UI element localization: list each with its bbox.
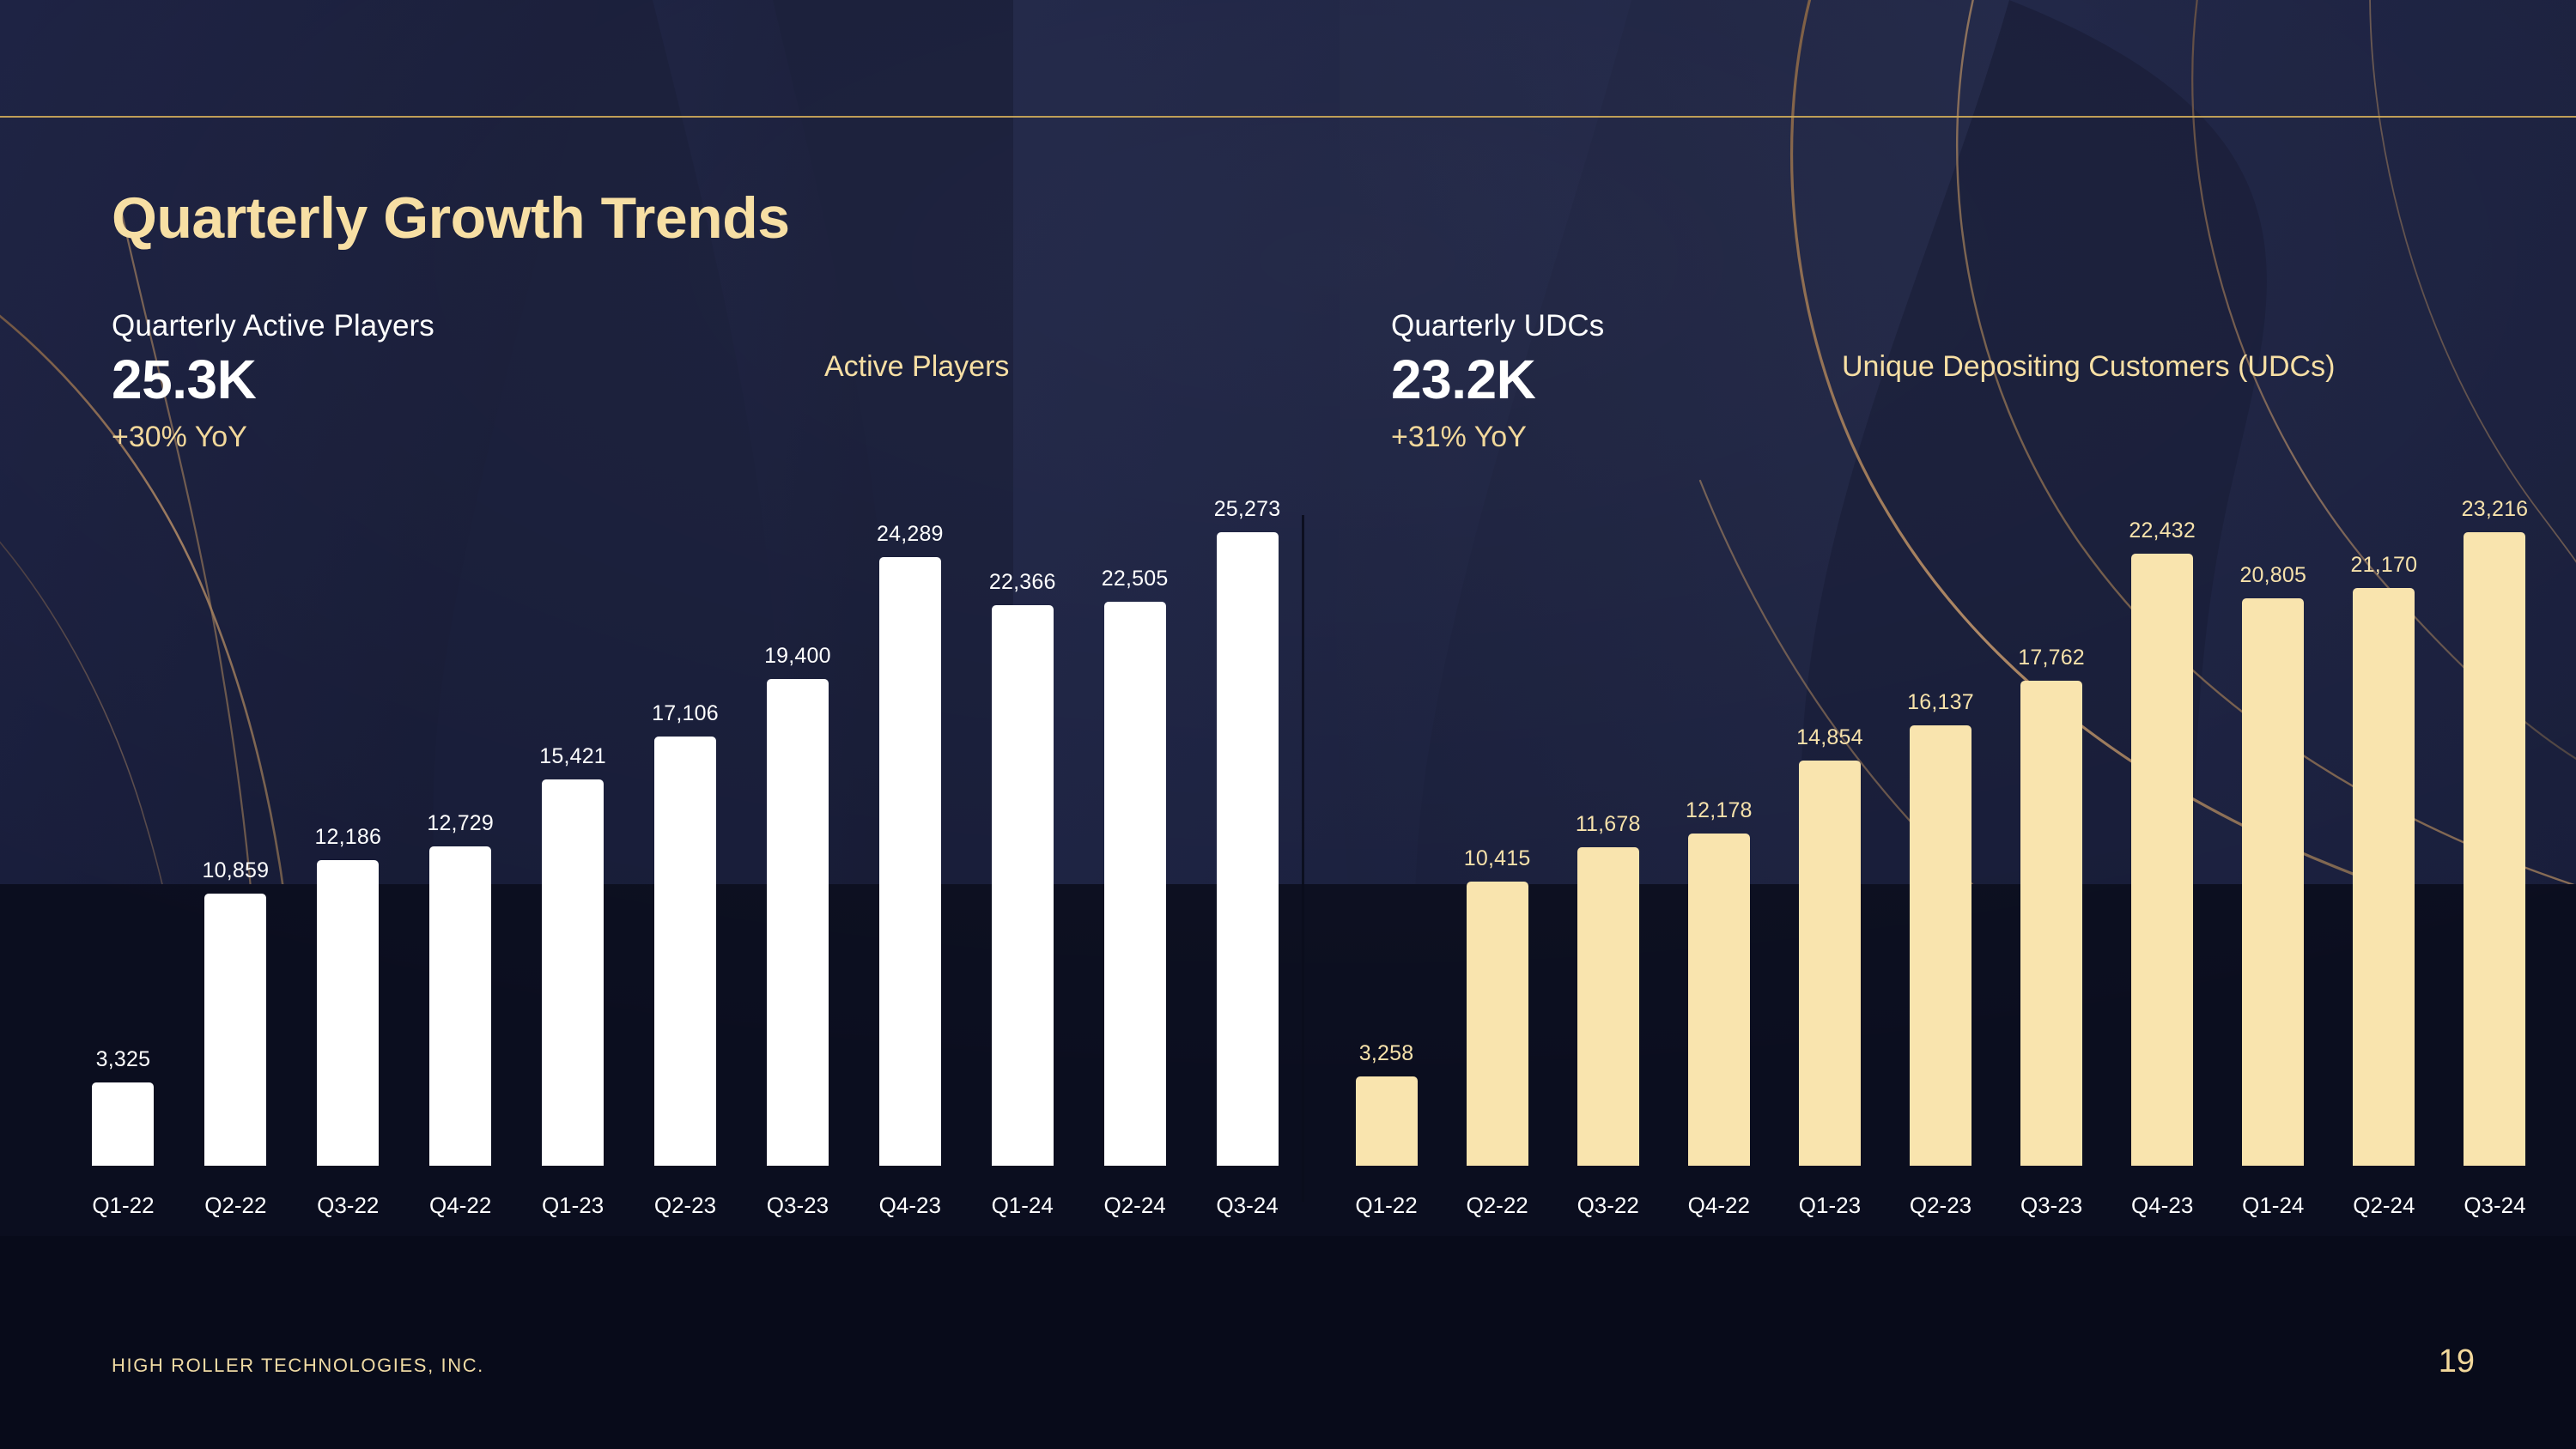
x-axis-tick-label: Q2-23 — [629, 1192, 742, 1219]
x-axis-tick-label: Q3-22 — [1552, 1192, 1663, 1219]
x-axis-tick-label: Q3-23 — [741, 1192, 854, 1219]
bar-group[interactable]: 15,421 — [542, 481, 604, 1166]
bar-group[interactable]: 22,366 — [992, 481, 1054, 1166]
page-number: 19 — [2439, 1343, 2475, 1380]
bar-value-label: 11,678 — [1576, 812, 1641, 837]
bar[interactable] — [992, 605, 1054, 1166]
kpi-label: Quarterly Active Players — [112, 309, 434, 343]
x-axis-tick-label: Q4-23 — [854, 1192, 966, 1219]
x-axis-tick-label: Q2-22 — [179, 1192, 292, 1219]
x-axis-tick-label: Q1-23 — [517, 1192, 629, 1219]
bar-group[interactable]: 25,273 — [1217, 481, 1279, 1166]
bar[interactable] — [542, 779, 604, 1166]
bar[interactable] — [1356, 1076, 1418, 1166]
bar-value-label: 17,106 — [652, 701, 719, 726]
bar-group[interactable]: 14,854 — [1799, 481, 1861, 1166]
bar-value-label: 21,170 — [2351, 553, 2418, 578]
x-axis-tick-label: Q4-23 — [2107, 1192, 2218, 1219]
kpi-active-players: Quarterly Active Players 25.3K +30% YoY — [112, 309, 434, 454]
bar[interactable] — [1217, 532, 1279, 1166]
bar-group[interactable]: 17,762 — [2020, 481, 2082, 1166]
kpi-label: Quarterly UDCs — [1391, 309, 1604, 343]
bar-group[interactable]: 10,859 — [204, 481, 266, 1166]
bar-value-label: 15,421 — [539, 744, 606, 769]
bar[interactable] — [2131, 554, 2193, 1166]
bar[interactable] — [1799, 761, 1861, 1166]
bar-chart-udcs: 3,25810,41511,67812,17814,85416,13717,76… — [1331, 481, 2550, 1219]
bar-group[interactable]: 12,729 — [429, 481, 491, 1166]
x-axis-tick-label: Q3-22 — [292, 1192, 404, 1219]
bar[interactable] — [1467, 882, 1528, 1166]
bar-group[interactable]: 10,415 — [1467, 481, 1528, 1166]
bar-value-label: 22,366 — [989, 570, 1056, 595]
bar-value-label: 16,137 — [1907, 690, 1974, 715]
bar[interactable] — [92, 1082, 154, 1166]
bar[interactable] — [1577, 847, 1639, 1166]
kpi-delta: +30% YoY — [112, 421, 434, 454]
bar-chart-active-players: 3,32510,85912,18612,72915,42117,10619,40… — [67, 481, 1303, 1219]
bar[interactable] — [767, 679, 829, 1166]
bar-value-label: 25,273 — [1214, 497, 1281, 522]
bar-group[interactable]: 19,400 — [767, 481, 829, 1166]
bar[interactable] — [654, 737, 716, 1166]
x-axis-tick-label: Q1-22 — [67, 1192, 179, 1219]
bar-group[interactable]: 12,178 — [1688, 481, 1750, 1166]
bar-group[interactable]: 21,170 — [2353, 481, 2415, 1166]
chart-title-active-players: Active Players — [824, 350, 1009, 384]
x-axis-tick-label: Q1-23 — [1774, 1192, 1885, 1219]
bar[interactable] — [1104, 602, 1166, 1166]
x-axis-tick-label: Q2-22 — [1442, 1192, 1552, 1219]
x-axis-tick-label: Q2-23 — [1885, 1192, 1996, 1219]
bar-group[interactable]: 20,805 — [2242, 481, 2304, 1166]
page-title: Quarterly Growth Trends — [112, 185, 790, 252]
bar[interactable] — [2353, 588, 2415, 1166]
chart-divider — [1302, 515, 1304, 1202]
x-axis-tick-label: Q1-24 — [2218, 1192, 2329, 1219]
bar-group[interactable]: 16,137 — [1910, 481, 1971, 1166]
bar-group[interactable]: 22,432 — [2131, 481, 2193, 1166]
bar-value-label: 10,415 — [1464, 846, 1531, 871]
slide-root: Quarterly Growth Trends Quarterly Active… — [0, 0, 2576, 1449]
bar-group[interactable]: 11,678 — [1577, 481, 1639, 1166]
bar-group[interactable]: 12,186 — [317, 481, 379, 1166]
x-axis-tick-label: Q3-23 — [1996, 1192, 2107, 1219]
bar-value-label: 10,859 — [203, 858, 270, 883]
bar[interactable] — [429, 846, 491, 1166]
x-axis-tick-label: Q3-24 — [1191, 1192, 1303, 1219]
bar-group[interactable]: 24,289 — [879, 481, 941, 1166]
bar-value-label: 22,432 — [2129, 518, 2196, 543]
plot-area: 3,32510,85912,18612,72915,42117,10619,40… — [67, 481, 1303, 1166]
bar-value-label: 22,505 — [1102, 567, 1169, 591]
bar-value-label: 20,805 — [2239, 563, 2306, 588]
bar-value-label: 14,854 — [1796, 725, 1863, 750]
top-divider-rule — [0, 116, 2576, 118]
bar-value-label: 12,186 — [314, 825, 381, 850]
x-axis-tick-label: Q2-24 — [2329, 1192, 2439, 1219]
background-footer-band — [0, 1236, 2576, 1449]
bar[interactable] — [317, 860, 379, 1166]
footer-brand: HIGH ROLLER TECHNOLOGIES, INC. — [112, 1355, 484, 1377]
x-axis-tick-label: Q1-22 — [1331, 1192, 1442, 1219]
bar[interactable] — [1688, 834, 1750, 1166]
x-axis-tick-label: Q4-22 — [404, 1192, 517, 1219]
bar[interactable] — [2464, 532, 2525, 1166]
x-axis-tick-label: Q1-24 — [966, 1192, 1078, 1219]
bar[interactable] — [204, 894, 266, 1166]
bar-value-label: 3,258 — [1359, 1041, 1414, 1066]
bar[interactable] — [1910, 725, 1971, 1166]
bar-value-label: 23,216 — [2462, 497, 2529, 522]
bar-group[interactable]: 17,106 — [654, 481, 716, 1166]
kpi-delta: +31% YoY — [1391, 421, 1604, 454]
x-axis-tick-label: Q3-24 — [2439, 1192, 2550, 1219]
kpi-value: 25.3K — [112, 352, 434, 407]
bar-group[interactable]: 3,325 — [92, 481, 154, 1166]
kpi-udcs: Quarterly UDCs 23.2K +31% YoY — [1391, 309, 1604, 454]
bar-value-label: 19,400 — [764, 644, 831, 669]
bar[interactable] — [2020, 681, 2082, 1166]
kpi-value: 23.2K — [1391, 352, 1604, 407]
bar-group[interactable]: 23,216 — [2464, 481, 2525, 1166]
chart-title-udcs: Unique Depositing Customers (UDCs) — [1842, 350, 2335, 384]
x-axis-tick-label: Q2-24 — [1078, 1192, 1191, 1219]
plot-area: 3,25810,41511,67812,17814,85416,13717,76… — [1331, 481, 2550, 1166]
bar-value-label: 24,289 — [877, 522, 944, 547]
bar-group[interactable]: 22,505 — [1104, 481, 1166, 1166]
bar-value-label: 12,178 — [1686, 798, 1753, 823]
x-axis-tick-label: Q4-22 — [1663, 1192, 1774, 1219]
bar-group[interactable]: 3,258 — [1356, 481, 1418, 1166]
bar-value-label: 12,729 — [427, 811, 494, 836]
bar-value-label: 17,762 — [2018, 646, 2085, 670]
bar-value-label: 3,325 — [96, 1047, 151, 1072]
bar[interactable] — [879, 557, 941, 1166]
bar[interactable] — [2242, 598, 2304, 1166]
